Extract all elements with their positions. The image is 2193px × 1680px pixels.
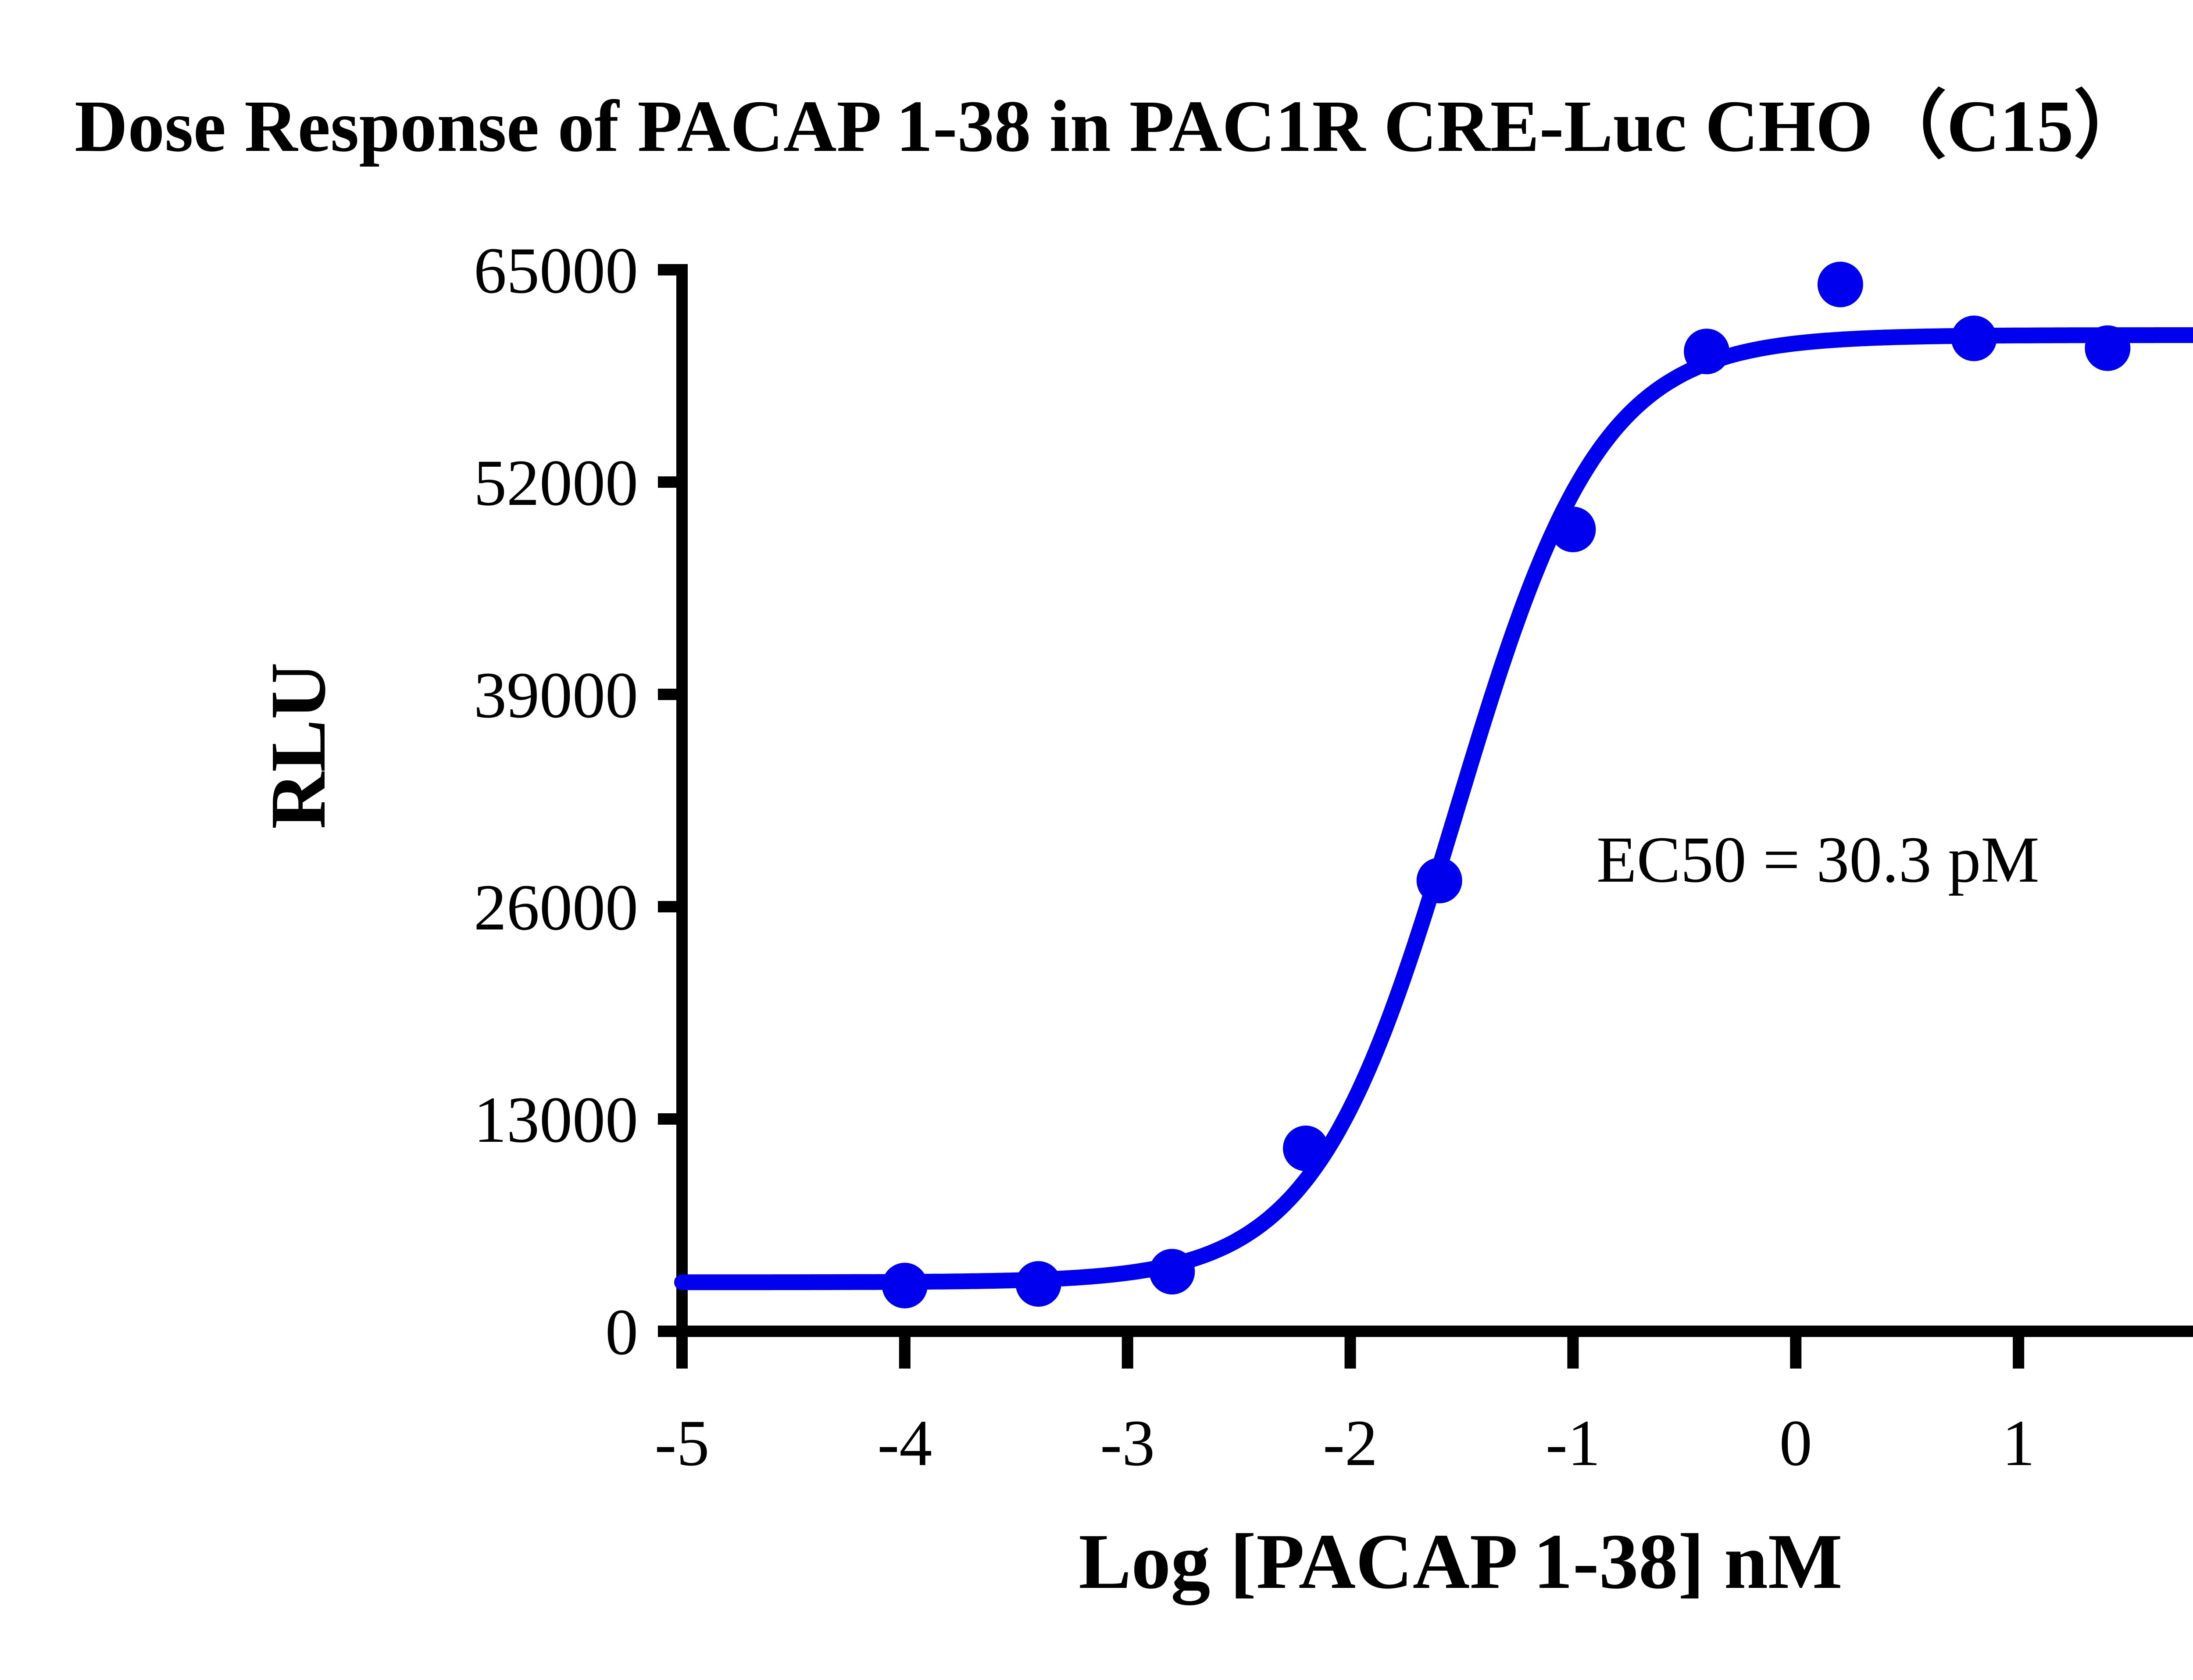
x-tick-label: -4 <box>877 1407 932 1480</box>
x-tick-labels: -5-4-3-2-1012 <box>655 1407 2193 1480</box>
data-point <box>1149 1249 1195 1294</box>
data-point <box>1283 1126 1329 1171</box>
y-tick-label: 39000 <box>474 659 638 732</box>
x-tick-label: 0 <box>1779 1407 1812 1480</box>
data-point <box>1951 315 1997 361</box>
x-axis-title: Log [PACAP 1-38] nM <box>1079 1518 1842 1605</box>
y-tick-label: 0 <box>605 1296 638 1369</box>
data-point <box>1684 329 1729 374</box>
data-point <box>2085 325 2130 371</box>
x-tick-label: -1 <box>1546 1407 1600 1480</box>
data-points <box>882 262 2193 1308</box>
data-point <box>1818 262 1863 307</box>
x-tick-label: -3 <box>1100 1407 1155 1480</box>
data-point <box>1016 1261 1061 1307</box>
ec50-annotation: EC50 = 30.3 pM <box>1597 823 2039 896</box>
data-point <box>1417 858 1462 903</box>
y-tick-label: 65000 <box>474 234 638 307</box>
data-point <box>882 1263 928 1308</box>
fit-curve-path <box>682 335 2193 1282</box>
data-point <box>1550 507 1596 552</box>
x-tick-label: -2 <box>1323 1407 1378 1480</box>
y-tick-label: 13000 <box>474 1083 638 1156</box>
axes-group <box>658 264 2193 1369</box>
y-tick-labels: 01300026000390005200065000 <box>474 234 638 1369</box>
y-tick-label: 26000 <box>474 871 638 944</box>
fit-curve <box>682 335 2193 1282</box>
x-tick-label: -5 <box>655 1407 710 1480</box>
dose-response-plot: -5-4-3-2-1012 01300026000390005200065000… <box>0 0 2193 1680</box>
chart-canvas: Dose Response of PACAP 1-38 in PAC1R CRE… <box>0 0 2193 1680</box>
x-tick-label: 1 <box>2002 1407 2035 1480</box>
y-axis-title: RLU <box>254 662 342 829</box>
y-tick-label: 52000 <box>474 447 638 519</box>
